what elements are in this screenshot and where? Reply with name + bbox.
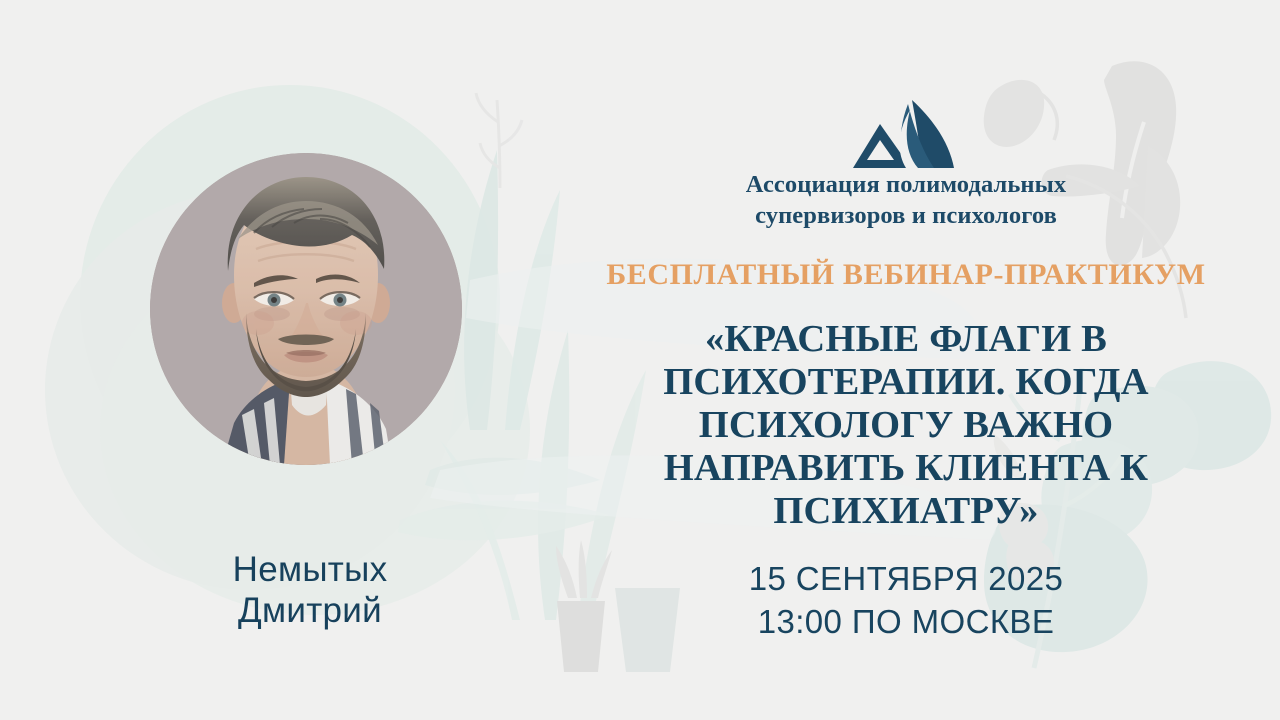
content-column: Ассоциация полимодальных супервизоров и …	[546, 0, 1266, 720]
webinar-announcement-slide: Немытых Дмитрий Ассоциация полимодальных…	[0, 0, 1280, 720]
organization-name: Ассоциация полимодальных супервизоров и …	[586, 169, 1226, 232]
page-title: «КРАСНЫЕ ФЛАГИ В ПСИХОТЕРАПИИ. КОГДА ПСИ…	[566, 318, 1246, 534]
avatar	[150, 153, 462, 465]
association-triangle-sail-logo	[850, 96, 962, 172]
portrait-photo	[150, 153, 462, 465]
event-kicker: БЕСПЛАТНЫЙ ВЕБИНАР-ПРАКТИКУМ	[546, 258, 1266, 291]
speaker-name: Немытых Дмитрий	[90, 550, 530, 631]
speaker-portrait	[150, 153, 462, 465]
association-logo	[546, 96, 1266, 172]
sprig-upper-center	[476, 93, 522, 188]
event-datetime: 15 СЕНТЯБРЯ 2025 13:00 ПО МОСКВЕ	[546, 558, 1266, 644]
